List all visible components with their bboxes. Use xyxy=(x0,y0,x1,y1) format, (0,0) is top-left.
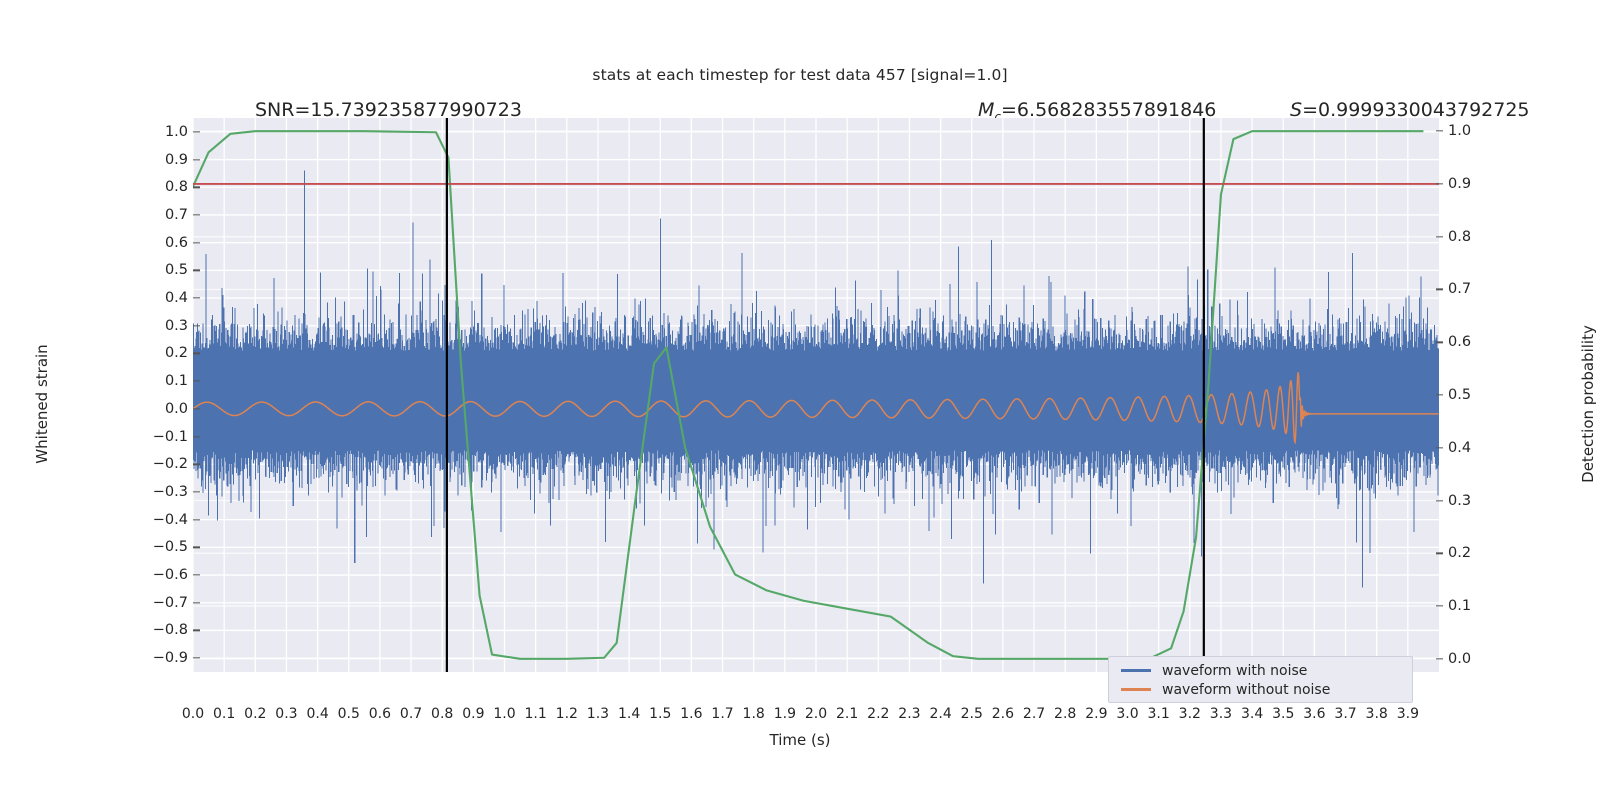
x-tick: 1.3 xyxy=(587,706,609,722)
tick-mark xyxy=(1436,553,1443,554)
y-tick-right: 0.8 xyxy=(1448,229,1508,245)
tick-mark xyxy=(193,325,200,326)
x-tick: 0.0 xyxy=(182,706,204,722)
y-tick-left: 0.5 xyxy=(128,262,188,278)
y-tick-right: 0.0 xyxy=(1448,651,1508,667)
y-tick-left: 0.0 xyxy=(128,401,188,417)
y-tick-left: −0.8 xyxy=(128,622,188,638)
y-tick-right: 0.9 xyxy=(1448,176,1508,192)
x-tick: 2.0 xyxy=(805,706,827,722)
y-tick-left: −0.1 xyxy=(128,429,188,445)
tick-mark xyxy=(193,187,200,188)
x-tick: 3.4 xyxy=(1241,706,1263,722)
y-tick-left: −0.5 xyxy=(128,539,188,555)
tick-mark xyxy=(193,657,200,658)
y-tick-left: −0.6 xyxy=(128,567,188,583)
legend-color-swatch xyxy=(1121,688,1151,691)
y-tick-right: 0.7 xyxy=(1448,281,1508,297)
y-tick-left: 0.3 xyxy=(128,318,188,334)
x-tick: 2.6 xyxy=(992,706,1014,722)
y-tick-right: 0.6 xyxy=(1448,334,1508,350)
tick-mark xyxy=(1436,342,1443,343)
tick-mark xyxy=(193,630,200,631)
x-tick: 0.6 xyxy=(369,706,391,722)
x-tick: 3.6 xyxy=(1303,706,1325,722)
y-tick-left: 0.4 xyxy=(128,290,188,306)
tick-mark xyxy=(1436,394,1443,395)
y-tick-left: 1.0 xyxy=(128,124,188,140)
legend-label: waveform without noise xyxy=(1162,682,1330,698)
tick-mark xyxy=(193,408,200,409)
tick-mark xyxy=(193,270,200,271)
tick-mark xyxy=(1436,289,1443,290)
x-tick: 1.0 xyxy=(493,706,515,722)
x-tick: 2.4 xyxy=(929,706,951,722)
tick-mark xyxy=(1436,183,1443,184)
y-tick-right: 0.2 xyxy=(1448,545,1508,561)
x-tick: 3.3 xyxy=(1210,706,1232,722)
y-tick-left: 0.9 xyxy=(128,152,188,168)
plot-area xyxy=(193,118,1439,672)
tick-mark xyxy=(1436,131,1443,132)
x-tick: 3.9 xyxy=(1397,706,1419,722)
x-tick: 1.2 xyxy=(556,706,578,722)
x-tick: 1.4 xyxy=(618,706,640,722)
legend-item[interactable]: waveform without noise xyxy=(1109,680,1412,699)
x-tick: 0.5 xyxy=(338,706,360,722)
x-tick: 1.6 xyxy=(680,706,702,722)
y-axis-left-label: Whitened strain xyxy=(33,304,51,504)
y-tick-left: 0.8 xyxy=(128,179,188,195)
tick-mark xyxy=(193,491,200,492)
x-tick: 3.1 xyxy=(1148,706,1170,722)
x-tick: 2.9 xyxy=(1085,706,1107,722)
x-tick: 0.3 xyxy=(275,706,297,722)
y-tick-right: 0.3 xyxy=(1448,493,1508,509)
x-tick: 1.1 xyxy=(525,706,547,722)
y-tick-right: 0.4 xyxy=(1448,440,1508,456)
x-tick: 2.3 xyxy=(898,706,920,722)
x-tick: 3.2 xyxy=(1179,706,1201,722)
figure-canvas: stats at each timestep for test data 457… xyxy=(0,0,1600,800)
y-tick-right: 0.5 xyxy=(1448,387,1508,403)
x-tick: 2.2 xyxy=(867,706,889,722)
tick-mark xyxy=(193,242,200,243)
y-tick-right: 0.1 xyxy=(1448,598,1508,614)
x-axis-label: Time (s) xyxy=(0,731,1600,749)
x-tick: 0.7 xyxy=(400,706,422,722)
y-tick-left: 0.2 xyxy=(128,345,188,361)
x-tick: 2.8 xyxy=(1054,706,1076,722)
y-tick-left: 0.6 xyxy=(128,235,188,251)
y-tick-right: 1.0 xyxy=(1448,123,1508,139)
x-tick: 0.2 xyxy=(244,706,266,722)
y-tick-left: −0.2 xyxy=(128,456,188,472)
tick-mark xyxy=(193,297,200,298)
x-tick: 3.5 xyxy=(1272,706,1294,722)
y-axis-right-label: Detection probability xyxy=(1579,294,1597,514)
chart-title: stats at each timestep for test data 457… xyxy=(0,66,1600,84)
tick-mark xyxy=(193,436,200,437)
y-tick-left: −0.3 xyxy=(128,484,188,500)
tick-mark xyxy=(193,519,200,520)
x-tick: 3.7 xyxy=(1334,706,1356,722)
y-tick-left: 0.1 xyxy=(128,373,188,389)
x-tick: 2.1 xyxy=(836,706,858,722)
x-tick: 1.5 xyxy=(649,706,671,722)
tick-mark xyxy=(193,602,200,603)
y-tick-left: −0.4 xyxy=(128,512,188,528)
tick-mark xyxy=(193,574,200,575)
y-tick-left: −0.9 xyxy=(128,650,188,666)
tick-mark xyxy=(193,214,200,215)
legend-item[interactable]: waveform with noise xyxy=(1109,661,1412,680)
x-tick: 2.5 xyxy=(961,706,983,722)
tick-mark xyxy=(193,464,200,465)
tick-mark xyxy=(193,131,200,132)
tick-mark xyxy=(1436,658,1443,659)
legend-color-swatch xyxy=(1121,669,1151,672)
x-tick: 3.8 xyxy=(1366,706,1388,722)
tick-mark xyxy=(193,547,200,548)
y-tick-left: −0.7 xyxy=(128,595,188,611)
x-tick: 0.4 xyxy=(306,706,328,722)
x-tick: 2.7 xyxy=(1023,706,1045,722)
tick-mark xyxy=(1436,236,1443,237)
x-tick: 3.0 xyxy=(1116,706,1138,722)
x-tick: 0.8 xyxy=(431,706,453,722)
tick-mark xyxy=(1436,500,1443,501)
y-tick-left: 0.7 xyxy=(128,207,188,223)
tick-mark xyxy=(193,353,200,354)
x-tick: 1.8 xyxy=(743,706,765,722)
legend: waveform with noisewaveform without nois… xyxy=(1108,656,1413,703)
tick-mark xyxy=(193,159,200,160)
tick-mark xyxy=(1436,447,1443,448)
x-tick: 0.1 xyxy=(213,706,235,722)
tick-mark xyxy=(1436,605,1443,606)
legend-label: waveform with noise xyxy=(1162,663,1307,679)
x-tick: 1.7 xyxy=(711,706,733,722)
x-tick: 1.9 xyxy=(774,706,796,722)
plot-svg xyxy=(193,118,1439,672)
tick-mark xyxy=(193,380,200,381)
x-tick: 0.9 xyxy=(462,706,484,722)
